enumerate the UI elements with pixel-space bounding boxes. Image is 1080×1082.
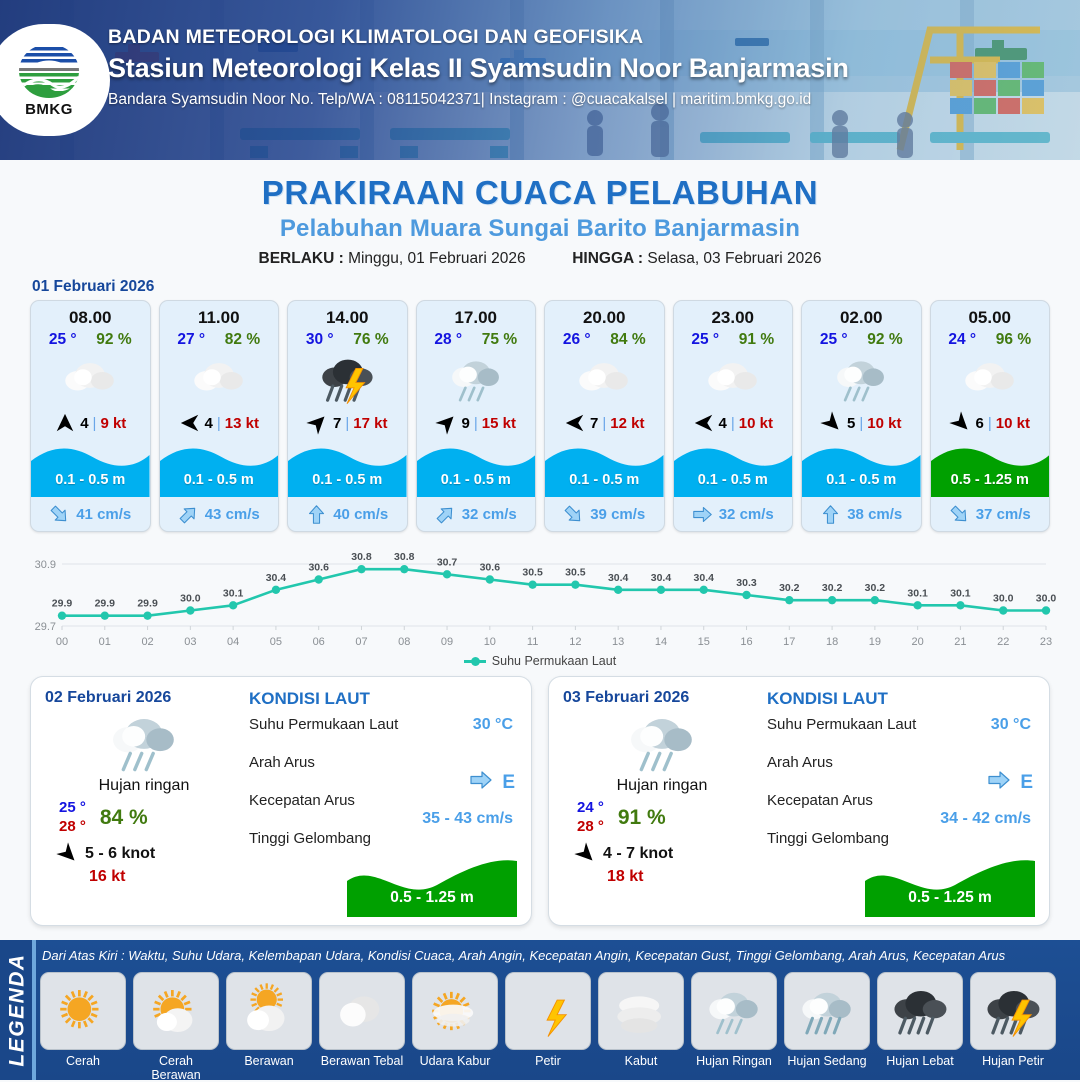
card-gust: 15 kt	[482, 415, 516, 432]
card-wave-height: 0.1 - 0.5 m	[31, 472, 150, 488]
weather-icon-petir	[517, 980, 579, 1042]
forecast-card[interactable]: 08.0025 °92 %4|9 kt0.1 - 0.5 m41 cm/s	[30, 300, 151, 532]
legend-item: Berawan	[226, 972, 312, 1082]
current-direction-label: Arah Arus	[249, 754, 315, 771]
svg-text:30.6: 30.6	[480, 562, 501, 574]
card-current-speed: 43 cm/s	[205, 506, 260, 523]
current-direction-arrow-se-icon	[944, 499, 974, 529]
legend-item-label: Udara Kabur	[412, 1054, 498, 1068]
svg-text:30.4: 30.4	[266, 572, 287, 584]
svg-text:02: 02	[141, 636, 153, 648]
svg-text:30.1: 30.1	[907, 587, 928, 599]
card-weather-icon	[802, 351, 921, 407]
svg-text:13: 13	[612, 636, 624, 648]
banner-text-block: BADAN METEOROLOGI KLIMATOLOGI DAN GEOFIS…	[108, 26, 849, 109]
card-wind-speed: 6	[976, 415, 984, 432]
legend-item-label: Hujan Petir	[970, 1054, 1056, 1068]
contact-line: Bandara Syamsudin Noor No. Telp/WA : 081…	[108, 91, 849, 109]
svg-text:29.9: 29.9	[95, 598, 116, 610]
legend-icon-box	[226, 972, 312, 1050]
card-wave: 0.1 - 0.5 m	[417, 441, 536, 497]
card-wind-row: 4|9 kt	[31, 407, 150, 439]
wind-separator: |	[345, 415, 349, 432]
bmkg-emblem-icon	[17, 43, 81, 99]
card-gust: 10 kt	[739, 415, 773, 432]
weather-icon-hujan-ringan	[623, 703, 701, 781]
svg-text:30.0: 30.0	[993, 593, 1014, 605]
card-current-row: 37 cm/s	[931, 497, 1050, 531]
current-direction-arrow-e-icon	[469, 768, 493, 792]
card-wind-row: 4|13 kt	[160, 407, 279, 439]
current-direction-row: Arah ArusE	[249, 754, 517, 792]
svg-text:30.3: 30.3	[736, 577, 757, 589]
weather-icon-hujan-petir	[982, 980, 1044, 1042]
wave-height-value: 0.5 - 1.25 m	[347, 889, 517, 907]
legend-icon-box	[691, 972, 777, 1050]
card-wind-speed: 7	[590, 415, 598, 432]
svg-text:07: 07	[355, 636, 367, 648]
card-time: 14.00	[288, 301, 407, 328]
legend-item-label: Berawan	[226, 1054, 312, 1068]
svg-text:18: 18	[826, 636, 838, 648]
wind-separator: |	[859, 415, 863, 432]
wave-shape-icon	[865, 855, 1035, 917]
valid-from-value: Minggu, 01 Februari 2026	[348, 250, 526, 267]
svg-text:29.9: 29.9	[52, 598, 73, 610]
svg-text:30.0: 30.0	[1036, 593, 1057, 605]
card-humidity: 75 %	[482, 331, 517, 349]
card-current-row: 41 cm/s	[31, 497, 150, 531]
legend-item-label: Petir	[505, 1054, 591, 1068]
svg-text:30.4: 30.4	[608, 572, 629, 584]
forecast-card[interactable]: 11.0027 °82 %4|13 kt0.1 - 0.5 m43 cm/s	[159, 300, 280, 532]
card-wave-height: 0.1 - 0.5 m	[545, 472, 664, 488]
wave-shape-icon	[417, 441, 536, 497]
card-temperature: 30 °	[306, 331, 334, 349]
legend-icon-box	[598, 972, 684, 1050]
card-current-speed: 37 cm/s	[976, 506, 1031, 523]
sst-label: Suhu Permukaan Laut	[767, 716, 916, 733]
card-temperature: 26 °	[563, 331, 591, 349]
card-time: 02.00	[802, 301, 921, 328]
current-direction-arrow-ne-icon	[173, 499, 203, 529]
legend-item-label: Hujan Sedang	[784, 1054, 870, 1068]
svg-text:30.4: 30.4	[651, 572, 672, 584]
sea-conditions: KONDISI LAUTSuhu Permukaan Laut30 °CArah…	[243, 689, 517, 915]
sst-row: Suhu Permukaan Laut30 °C	[767, 716, 1035, 754]
card-temperature: 25 °	[49, 331, 77, 349]
svg-text:30.1: 30.1	[223, 587, 244, 599]
legend-item: Hujan Petir	[970, 972, 1056, 1082]
weather-icon-berawan	[574, 349, 634, 409]
sea-conditions-title: KONDISI LAUT	[767, 689, 1035, 709]
svg-text:04: 04	[227, 636, 239, 648]
sea-conditions: KONDISI LAUTSuhu Permukaan Laut30 °CArah…	[761, 689, 1035, 915]
card-wave: 0.1 - 0.5 m	[160, 441, 279, 497]
day-temp-min: 25 °	[59, 799, 86, 818]
legend-icon-box	[784, 972, 870, 1050]
svg-text:21: 21	[954, 636, 966, 648]
card-wind-row: 6|10 kt	[931, 407, 1050, 439]
current-speed-value: 34 - 42 cm/s	[940, 810, 1031, 828]
weather-icon-berawan	[60, 349, 120, 409]
legend-icon-box	[133, 972, 219, 1050]
card-humidity: 84 %	[610, 331, 645, 349]
legend-item: Kabut	[598, 972, 684, 1082]
svg-text:10: 10	[484, 636, 496, 648]
current-speed-label: Kecepatan Arus	[249, 792, 355, 809]
wave-shape-icon	[802, 441, 921, 497]
card-wind-row: 5|10 kt	[802, 407, 921, 439]
legend-item-label: Hujan Ringan	[691, 1054, 777, 1068]
weather-icon-hujan-ringan	[446, 349, 506, 409]
wave-shape-icon	[288, 441, 407, 497]
day-condition: Hujan ringan	[563, 777, 761, 795]
svg-text:29.7: 29.7	[35, 621, 56, 633]
svg-text:15: 15	[698, 636, 710, 648]
legend-item: Hujan Sedang	[784, 972, 870, 1082]
card-gust: 10 kt	[996, 415, 1030, 432]
wind-separator: |	[602, 415, 606, 432]
svg-text:30.8: 30.8	[394, 551, 415, 563]
weather-icon-udara-kabur	[424, 980, 486, 1042]
forecast-card[interactable]: 05.0024 °96 %6|10 kt0.5 - 1.25 m37 cm/s	[930, 300, 1051, 532]
svg-text:30.2: 30.2	[822, 582, 843, 594]
weather-icon-berawan-tebal	[331, 980, 393, 1042]
legend-footer: LEGENDA Dari Atas Kiri : Waktu, Suhu Uda…	[0, 940, 1080, 1080]
legend-icon-box	[505, 972, 591, 1050]
legend-tab: LEGENDA	[0, 940, 36, 1080]
card-humidity: 82 %	[225, 331, 260, 349]
weather-icon-hujan-ringan	[831, 349, 891, 409]
card-wave-height: 0.1 - 0.5 m	[417, 472, 536, 488]
current-speed-row: Kecepatan Arus35 - 43 cm/s	[249, 792, 517, 830]
card-gust: 9 kt	[100, 415, 126, 432]
current-direction-value: E	[1020, 772, 1033, 794]
forecast-card[interactable]: 20.0026 °84 %7|12 kt0.1 - 0.5 m39 cm/s	[544, 300, 665, 532]
card-wind-row: 7|17 kt	[288, 407, 407, 439]
card-wind-speed: 4	[719, 415, 727, 432]
day-temp-max: 28 °	[577, 818, 604, 837]
card-current-speed: 40 cm/s	[333, 506, 388, 523]
svg-text:19: 19	[869, 636, 881, 648]
wind-direction-arrow-e-icon	[564, 412, 586, 434]
day-humidity: 91 %	[618, 806, 666, 830]
current-direction-row: Arah ArusE	[767, 754, 1035, 792]
card-wave: 0.1 - 0.5 m	[31, 441, 150, 497]
valid-until-label: HINGGA :	[572, 250, 643, 267]
wave-shape-icon	[31, 441, 150, 497]
svg-text:30.7: 30.7	[437, 556, 458, 568]
sst-chart: 30.929.729.90029.90129.90230.00330.10430…	[20, 542, 1060, 652]
weather-icon-berawan	[703, 349, 763, 409]
card-humidity: 92 %	[867, 331, 902, 349]
day-humidity: 84 %	[100, 806, 148, 830]
card-wave: 0.1 - 0.5 m	[802, 441, 921, 497]
sst-value: 30 °C	[473, 716, 513, 734]
card-current-row: 32 cm/s	[417, 497, 536, 531]
day-wind-row: 4 - 7 knot	[563, 843, 761, 865]
legend-item: Berawan Tebal	[319, 972, 405, 1082]
weather-icon-berawan-legend	[238, 980, 300, 1042]
wind-direction-arrow-s-icon	[54, 412, 76, 434]
svg-text:30.2: 30.2	[865, 582, 886, 594]
legend-icon-box	[877, 972, 963, 1050]
wind-direction-arrow-nw-icon	[945, 407, 976, 438]
svg-text:20: 20	[912, 636, 924, 648]
legend-items-row: CerahCerah BerawanBerawanBerawan TebalUd…	[40, 972, 1076, 1082]
bmkg-logo-text: BMKG	[25, 101, 73, 118]
card-weather-icon	[31, 351, 150, 407]
card-current-speed: 32 cm/s	[462, 506, 517, 523]
sst-chart-svg: 30.929.729.90029.90129.90230.00330.10430…	[20, 542, 1060, 652]
wind-separator: |	[988, 415, 992, 432]
wave-shape-icon	[160, 441, 279, 497]
card-current-speed: 41 cm/s	[76, 506, 131, 523]
card-time: 17.00	[417, 301, 536, 328]
svg-text:30.5: 30.5	[565, 567, 586, 579]
daily-forecast-panel[interactable]: 03 Februari 2026Hujan ringan24 °28 °91 %…	[548, 676, 1050, 926]
valid-from-label: BERLAKU :	[259, 250, 344, 267]
sst-label: Suhu Permukaan Laut	[249, 716, 398, 733]
wave-height-label: Tinggi Gelombang	[767, 830, 889, 847]
daily-forecast-row: 02 Februari 2026Hujan ringan25 °28 °84 %…	[0, 668, 1080, 926]
weather-icon-hujan-lebat	[889, 980, 951, 1042]
card-gust: 12 kt	[610, 415, 644, 432]
chart-legend: Suhu Permukaan Laut	[0, 654, 1080, 668]
card-weather-icon	[288, 351, 407, 407]
card-temperature: 27 °	[177, 331, 205, 349]
org-name: BADAN METEOROLOGI KLIMATOLOGI DAN GEOFIS…	[108, 26, 849, 49]
legend-item: Hujan Lebat	[877, 972, 963, 1082]
card-wind-speed: 4	[80, 415, 88, 432]
sea-conditions-title: KONDISI LAUT	[249, 689, 517, 709]
card-weather-icon	[674, 351, 793, 407]
legend-item-label: Berawan Tebal	[319, 1054, 405, 1068]
wind-separator: |	[474, 415, 478, 432]
card-weather-icon	[545, 351, 664, 407]
legend-item: Petir	[505, 972, 591, 1082]
svg-text:29.9: 29.9	[137, 598, 158, 610]
current-direction-arrow-se-icon	[559, 499, 589, 529]
card-time: 05.00	[931, 301, 1050, 328]
legend-item: Cerah	[40, 972, 126, 1082]
card-wave-height: 0.1 - 0.5 m	[288, 472, 407, 488]
forecast-card[interactable]: 17.0028 °75 %9|15 kt0.1 - 0.5 m32 cm/s	[416, 300, 537, 532]
card-weather-icon	[160, 351, 279, 407]
weather-icon-cerah	[52, 980, 114, 1042]
card-humidity: 96 %	[996, 331, 1031, 349]
day-temp-humidity: 25 °28 °84 %	[45, 799, 243, 837]
svg-text:30.6: 30.6	[308, 562, 329, 574]
svg-text:06: 06	[313, 636, 325, 648]
card-weather-icon	[931, 351, 1050, 407]
day-condition: Hujan ringan	[45, 777, 243, 795]
card-wave: 0.1 - 0.5 m	[288, 441, 407, 497]
svg-text:30.2: 30.2	[779, 582, 800, 594]
day-temp-min: 24 °	[577, 799, 604, 818]
card-current-row: 43 cm/s	[160, 497, 279, 531]
card-time: 11.00	[160, 301, 279, 328]
card-current-speed: 39 cm/s	[590, 506, 645, 523]
svg-text:16: 16	[740, 636, 752, 648]
current-direction-arrow-e-icon	[692, 504, 713, 525]
current-direction-arrow-ne-icon	[430, 499, 460, 529]
card-wind-row: 7|12 kt	[545, 407, 664, 439]
day-temp-humidity: 24 °28 °91 %	[563, 799, 761, 837]
svg-text:09: 09	[441, 636, 453, 648]
legend-item: Cerah Berawan	[133, 972, 219, 1082]
validity-line: BERLAKU : Minggu, 01 Februari 2026 HINGG…	[0, 250, 1080, 268]
weather-icon-hujan-ringan	[703, 980, 765, 1042]
current-direction-arrow-n-icon	[820, 504, 841, 525]
legend-item: Udara Kabur	[412, 972, 498, 1082]
card-gust: 17 kt	[353, 415, 387, 432]
wave-shape-icon	[545, 441, 664, 497]
day-wind-range: 5 - 6 knot	[85, 845, 155, 863]
forecast-card[interactable]: 02.0025 °92 %5|10 kt0.1 - 0.5 m38 cm/s	[801, 300, 922, 532]
card-humidity: 76 %	[353, 331, 388, 349]
legend-tab-label: LEGENDA	[6, 953, 30, 1066]
card-wind-speed: 4	[205, 415, 213, 432]
daily-forecast-panel[interactable]: 02 Februari 2026Hujan ringan25 °28 °84 %…	[30, 676, 532, 926]
day-weather-icon	[563, 705, 761, 779]
forecast-date-label: 01 Februari 2026	[32, 278, 1080, 296]
card-current-row: 38 cm/s	[802, 497, 921, 531]
wind-direction-arrow-sw-icon	[431, 407, 462, 438]
current-speed-label: Kecepatan Arus	[767, 792, 873, 809]
wave-shape-icon	[674, 441, 793, 497]
svg-text:08: 08	[398, 636, 410, 648]
forecast-card[interactable]: 23.0025 °91 %4|10 kt0.1 - 0.5 m32 cm/s	[673, 300, 794, 532]
sst-row: Suhu Permukaan Laut30 °C	[249, 716, 517, 754]
svg-text:00: 00	[56, 636, 68, 648]
wind-separator: |	[731, 415, 735, 432]
legend-item-label: Hujan Lebat	[877, 1054, 963, 1068]
svg-text:30.1: 30.1	[950, 587, 971, 599]
page-title: PRAKIRAAN CUACA PELABUHAN	[0, 174, 1080, 212]
svg-text:30.9: 30.9	[35, 559, 56, 571]
card-weather-icon	[417, 351, 536, 407]
svg-text:05: 05	[270, 636, 282, 648]
svg-text:17: 17	[783, 636, 795, 648]
current-direction-arrow-e-icon	[987, 768, 1011, 792]
title-block: PRAKIRAAN CUACA PELABUHAN Pelabuhan Muar…	[0, 160, 1080, 268]
day-gust: 16 kt	[45, 868, 243, 886]
card-current-row: 39 cm/s	[545, 497, 664, 531]
card-gust: 13 kt	[225, 415, 259, 432]
current-direction-label: Arah Arus	[767, 754, 833, 771]
weather-icon-berawan	[960, 349, 1020, 409]
legend-note: Dari Atas Kiri : Waktu, Suhu Udara, Kele…	[42, 948, 1074, 963]
card-current-row: 32 cm/s	[674, 497, 793, 531]
card-humidity: 92 %	[96, 331, 131, 349]
card-humidity: 91 %	[739, 331, 774, 349]
card-current-row: 40 cm/s	[288, 497, 407, 531]
chart-legend-label: Suhu Permukaan Laut	[492, 654, 616, 668]
wind-direction-arrow-nw-icon	[52, 838, 83, 869]
current-direction-arrow-n-icon	[306, 504, 327, 525]
weather-icon-berawan	[189, 349, 249, 409]
card-time: 08.00	[31, 301, 150, 328]
card-current-speed: 38 cm/s	[847, 506, 902, 523]
legend-icon-box	[412, 972, 498, 1050]
card-wind-row: 4|10 kt	[674, 407, 793, 439]
card-wind-row: 9|15 kt	[417, 407, 536, 439]
svg-text:12: 12	[569, 636, 581, 648]
chart-legend-marker-icon	[464, 660, 486, 663]
card-gust: 10 kt	[867, 415, 901, 432]
day-summary: 03 Februari 2026Hujan ringan24 °28 °91 %…	[563, 689, 761, 915]
card-wave-height: 0.1 - 0.5 m	[674, 472, 793, 488]
card-wave-height: 0.1 - 0.5 m	[802, 472, 921, 488]
wave-height-value: 0.5 - 1.25 m	[865, 889, 1035, 907]
sst-value: 30 °C	[991, 716, 1031, 734]
svg-text:30.0: 30.0	[180, 593, 201, 605]
wind-direction-arrow-sw-icon	[302, 407, 333, 438]
legend-item-label: Cerah	[40, 1054, 126, 1068]
weather-icon-cerah-berawan	[145, 980, 207, 1042]
svg-text:23: 23	[1040, 636, 1052, 648]
legend-icon-box	[970, 972, 1056, 1050]
current-direction-arrow-se-icon	[45, 499, 75, 529]
day-wind-range: 4 - 7 knot	[603, 845, 673, 863]
card-wind-speed: 7	[333, 415, 341, 432]
svg-text:01: 01	[99, 636, 111, 648]
card-wave: 0.1 - 0.5 m	[674, 441, 793, 497]
card-wind-speed: 9	[462, 415, 470, 432]
card-temperature: 24 °	[948, 331, 976, 349]
legend-item-label: Cerah Berawan	[133, 1054, 219, 1082]
svg-text:11: 11	[527, 636, 538, 648]
day-summary: 02 Februari 2026Hujan ringan25 °28 °84 %…	[45, 689, 243, 915]
current-speed-row: Kecepatan Arus34 - 42 cm/s	[767, 792, 1035, 830]
wind-direction-arrow-e-icon	[179, 412, 201, 434]
legend-icon-box	[40, 972, 126, 1050]
wind-separator: |	[217, 415, 221, 432]
weather-icon-hujan-sedang	[796, 980, 858, 1042]
day-gust: 18 kt	[563, 868, 761, 886]
weather-icon-kabut	[610, 980, 672, 1042]
card-wave-height: 0.5 - 1.25 m	[931, 472, 1050, 488]
legend-item-label: Kabut	[598, 1054, 684, 1068]
legend-icon-box	[319, 972, 405, 1050]
current-direction-value: E	[502, 772, 515, 794]
card-wave: 0.1 - 0.5 m	[545, 441, 664, 497]
page-subtitle: Pelabuhan Muara Sungai Barito Banjarmasi…	[0, 215, 1080, 243]
svg-text:03: 03	[184, 636, 196, 648]
card-wave-height: 0.1 - 0.5 m	[160, 472, 279, 488]
header-banner: BMKG BADAN METEOROLOGI KLIMATOLOGI DAN G…	[0, 0, 1080, 160]
wind-separator: |	[93, 415, 97, 432]
svg-text:30.5: 30.5	[522, 567, 543, 579]
wave-shape-icon	[347, 855, 517, 917]
card-wind-speed: 5	[847, 415, 855, 432]
svg-text:30.4: 30.4	[694, 572, 715, 584]
forecast-card[interactable]: 14.0030 °76 %7|17 kt0.1 - 0.5 m40 cm/s	[287, 300, 408, 532]
card-temperature: 25 °	[691, 331, 719, 349]
card-temperature: 28 °	[434, 331, 462, 349]
wave-height-label: Tinggi Gelombang	[249, 830, 371, 847]
bmkg-logo: BMKG	[0, 24, 110, 136]
hourly-forecast-row: 08.0025 °92 %4|9 kt0.1 - 0.5 m41 cm/s11.…	[0, 300, 1080, 532]
svg-text:14: 14	[655, 636, 667, 648]
station-name: Stasiun Meteorologi Kelas II Syamsudin N…	[108, 53, 849, 84]
legend-item: Hujan Ringan	[691, 972, 777, 1082]
wind-direction-arrow-nw-icon	[816, 407, 847, 438]
card-time: 23.00	[674, 301, 793, 328]
wind-direction-arrow-e-icon	[693, 412, 715, 434]
